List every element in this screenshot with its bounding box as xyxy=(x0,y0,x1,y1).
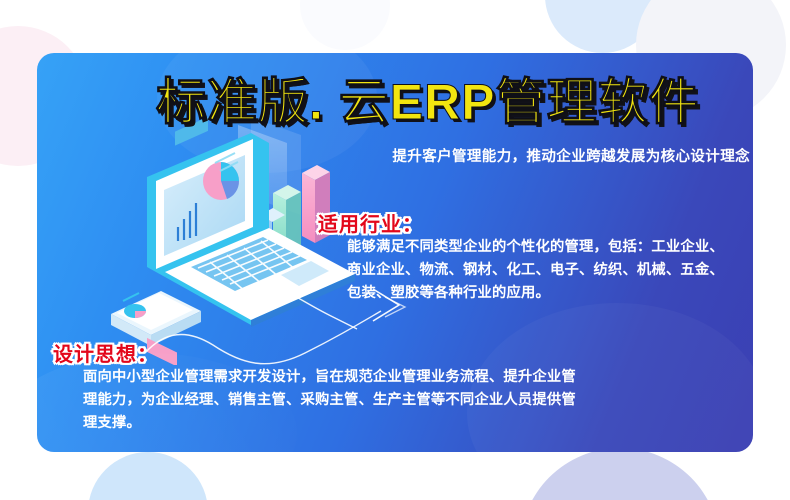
white-circle-top-middle xyxy=(300,0,390,50)
banner-canvas: 标准版. 云ERP管理软件 提升客户管理能力，推动企业跨越发展为核心设计理念 适… xyxy=(0,0,790,500)
page-subtitle: 提升客户管理能力，推动企业跨越发展为核心设计理念 xyxy=(280,145,750,166)
page-title: 标准版. 云ERP管理软件 xyxy=(156,62,756,134)
section-body-design: 面向中小型企业管理需求开发设计，旨在规范企业管理业务流程、提升企业管理能力，为企… xyxy=(83,366,583,435)
section-heading-industry: 适用行业： xyxy=(318,208,423,237)
section-heading-design: 设计思想： xyxy=(53,338,158,367)
section-body-industry: 能够满足不同类型企业的个性化的管理，包括：工业企业、商业企业、物流、钢材、化工、… xyxy=(347,236,737,305)
lavender-circle-bottom-right xyxy=(520,448,720,500)
blue-circle-bottom-left xyxy=(88,452,208,500)
